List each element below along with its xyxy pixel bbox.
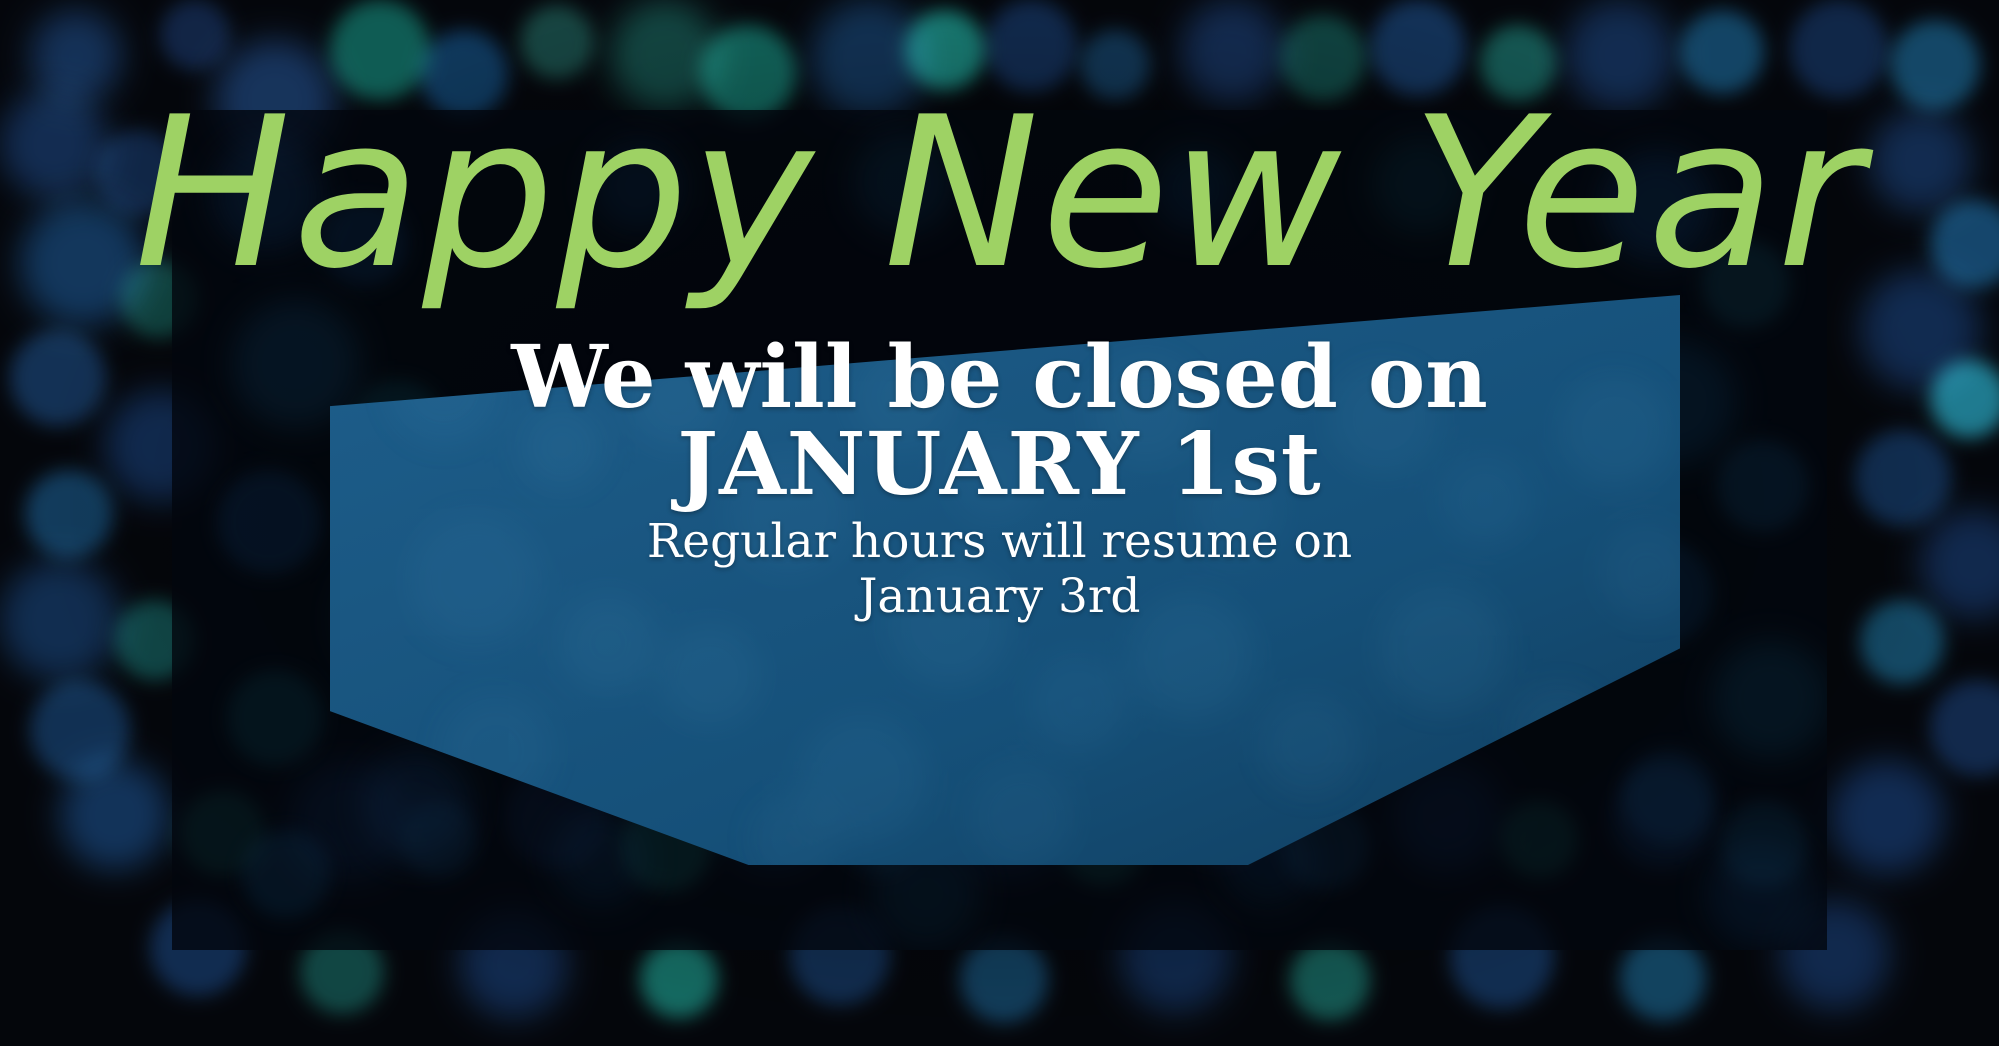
subtext-line-2: January 3rd xyxy=(0,569,1999,624)
bokeh-circle xyxy=(60,760,170,870)
bokeh-circle xyxy=(1260,695,1360,795)
bokeh-circle xyxy=(242,830,330,918)
bokeh-circle xyxy=(520,5,594,79)
bokeh-circle xyxy=(1712,640,1827,758)
bokeh-circle xyxy=(970,765,1074,865)
bokeh-circle xyxy=(552,810,648,906)
bokeh-circle xyxy=(1622,750,1716,844)
headline-happy-new-year: Happy New Year xyxy=(0,88,1999,300)
poster-canvas: Happy New Year We will be closed on JANU… xyxy=(0,0,1999,1046)
bokeh-circle xyxy=(227,670,323,766)
bokeh-circle xyxy=(1030,655,1126,751)
notice-line-date: JANUARY 1st xyxy=(0,420,1999,509)
subtext-line-1: Regular hours will resume on xyxy=(0,514,1999,569)
bokeh-circle xyxy=(1707,840,1815,948)
bokeh-circle xyxy=(1290,940,1370,1020)
subtext-block: Regular hours will resume on January 3rd xyxy=(0,514,1999,625)
notice-line-closed: We will be closed on xyxy=(0,333,1999,422)
bokeh-circle xyxy=(640,940,718,1018)
bokeh-circle xyxy=(1930,680,1999,776)
bokeh-circle xyxy=(160,0,230,70)
bokeh-circle xyxy=(660,625,760,725)
bokeh-circle xyxy=(1830,760,1944,874)
bokeh-circle xyxy=(362,750,472,860)
